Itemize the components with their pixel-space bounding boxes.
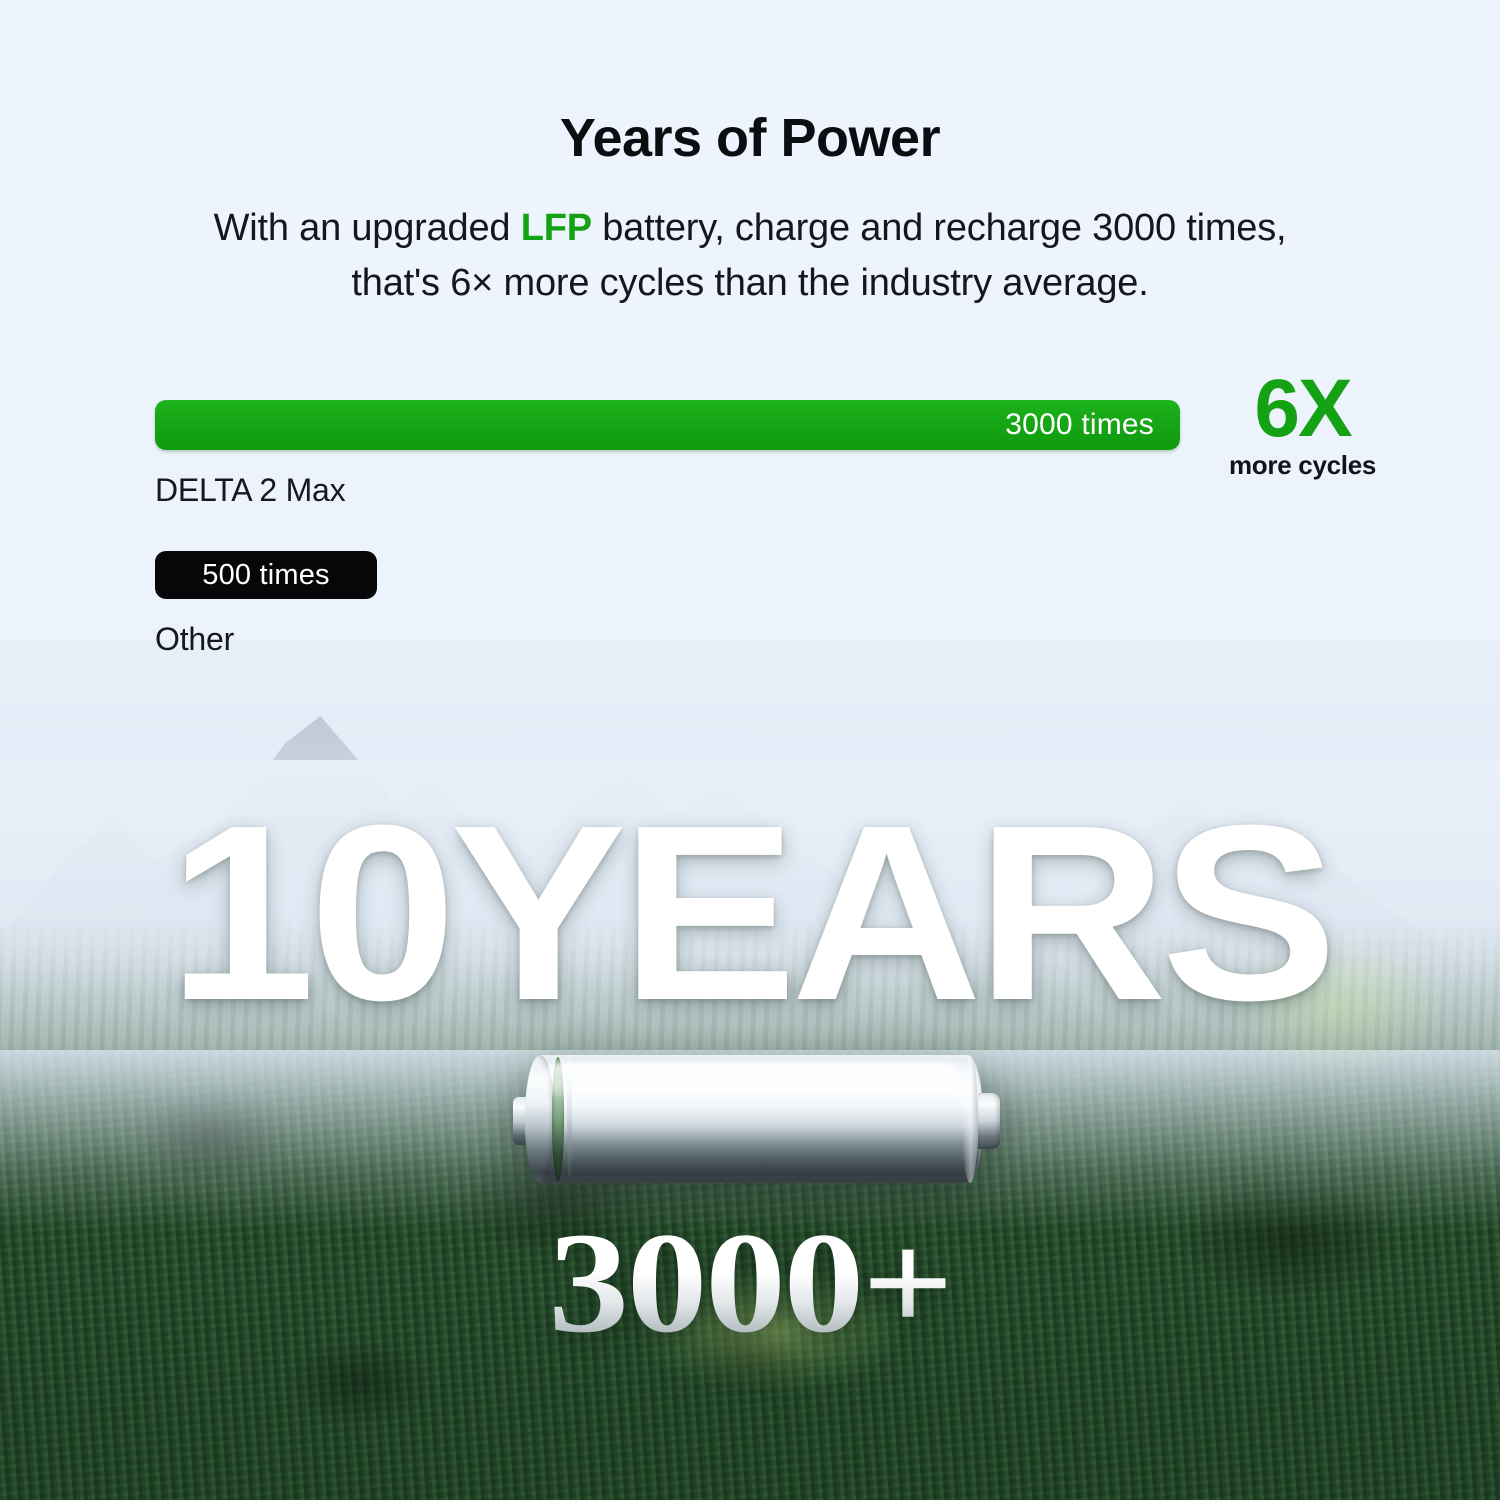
battery-highlight bbox=[543, 1063, 963, 1097]
battery-cell-icon bbox=[513, 1055, 1000, 1183]
sun-glow bbox=[1230, 940, 1450, 1070]
bar-other: 500 times bbox=[155, 551, 377, 599]
multiplier-caption: more cycles bbox=[1210, 452, 1395, 478]
copy-block: Years of Power With an upgraded LFP batt… bbox=[0, 0, 1500, 311]
bar-delta2max: 3000 times bbox=[155, 400, 1180, 450]
subheadline: With an upgraded LFP battery, charge and… bbox=[0, 201, 1500, 311]
bar-row-other: 500 times Other bbox=[155, 551, 1405, 658]
sun-glow bbox=[640, 1270, 900, 1390]
multiplier-value: 6X bbox=[1210, 368, 1395, 450]
subheadline-line-2: that's 6× more cycles than the industry … bbox=[351, 262, 1148, 304]
lfp-highlight: LFP bbox=[521, 207, 592, 249]
subheadline-part-2: battery, charge and recharge 3000 times, bbox=[592, 207, 1287, 249]
page-title: Years of Power bbox=[0, 0, 1500, 167]
bar-row-delta2max: 3000 times 6X more cycles DELTA 2 Max bbox=[155, 400, 1405, 509]
subheadline-part-1: With an upgraded bbox=[214, 207, 521, 249]
bar-label-other: Other bbox=[155, 621, 1405, 658]
battery-right-edge bbox=[962, 1055, 978, 1183]
bar-value-other: 500 times bbox=[202, 559, 330, 592]
bar-value-delta2max: 3000 times bbox=[1005, 408, 1180, 442]
cycle-comparison-chart: 3000 times 6X more cycles DELTA 2 Max 50… bbox=[155, 400, 1405, 658]
multiplier-annotation: 6X more cycles bbox=[1210, 368, 1395, 478]
promo-graphic: Years of Power With an upgraded LFP batt… bbox=[0, 0, 1500, 1500]
battery-positive-terminal bbox=[978, 1093, 1000, 1149]
